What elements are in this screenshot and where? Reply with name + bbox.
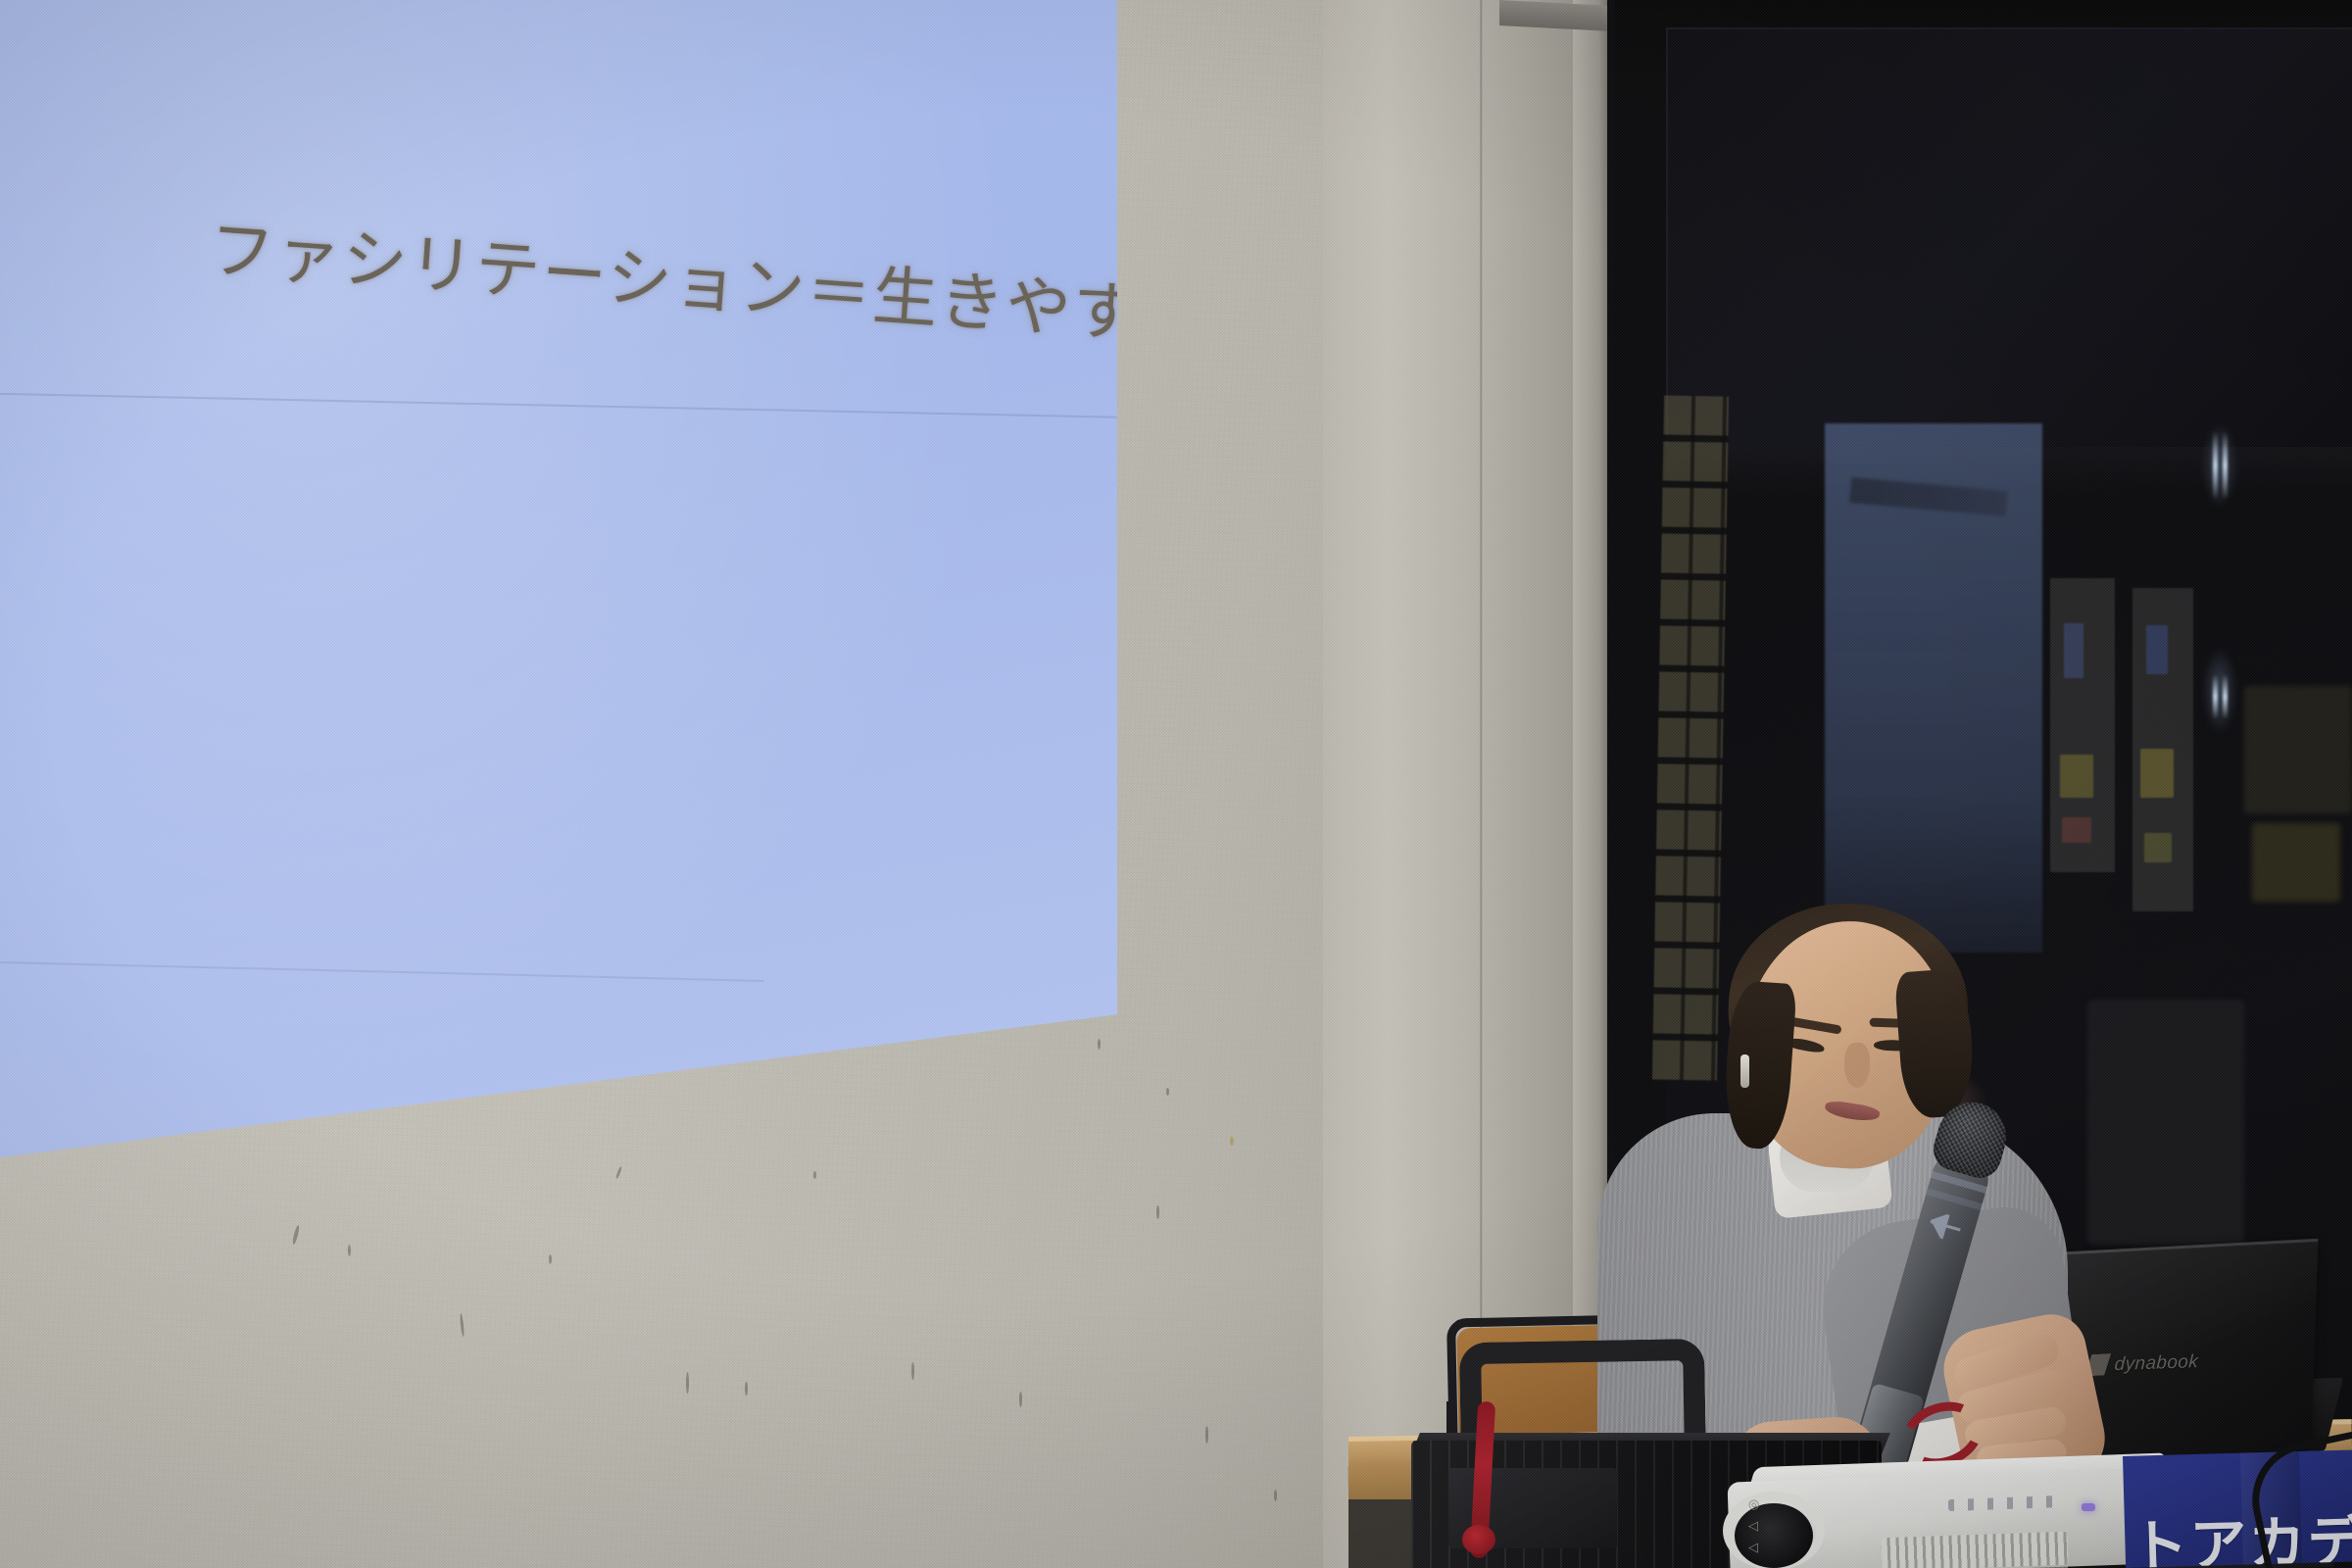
photo-scene: ファシリテーション＝生きやすくすること	[0, 0, 2352, 1568]
screen-reflection-in-glass	[1825, 423, 2042, 953]
earring	[1740, 1054, 1749, 1088]
light-streak-3	[2213, 674, 2218, 719]
status-led-icon	[2082, 1503, 2095, 1511]
wall-poster-1	[2050, 578, 2115, 872]
projection-screen: ファシリテーション＝生きやすくすること	[0, 0, 1117, 1215]
projector-vent	[1881, 1532, 2068, 1568]
far-object-greenish	[2244, 686, 2352, 813]
far-object-yellowish	[2252, 823, 2340, 902]
projection-sheen	[0, 0, 1117, 1215]
nose	[1844, 1043, 1870, 1088]
light-streak-1	[2213, 431, 2218, 500]
mic-brand-icon	[1927, 1210, 1964, 1244]
light-glow-bottom	[2203, 647, 2236, 735]
red-cord-knot	[1462, 1525, 1495, 1554]
upper-glass-pane	[1666, 27, 2352, 451]
wall-poster-2	[2132, 588, 2193, 911]
light-streak-2	[2223, 431, 2228, 500]
projector-control-icons: ◎◁◁	[1748, 1494, 1791, 1560]
light-streak-4	[2223, 674, 2228, 719]
light-glow-top	[2203, 421, 2236, 510]
